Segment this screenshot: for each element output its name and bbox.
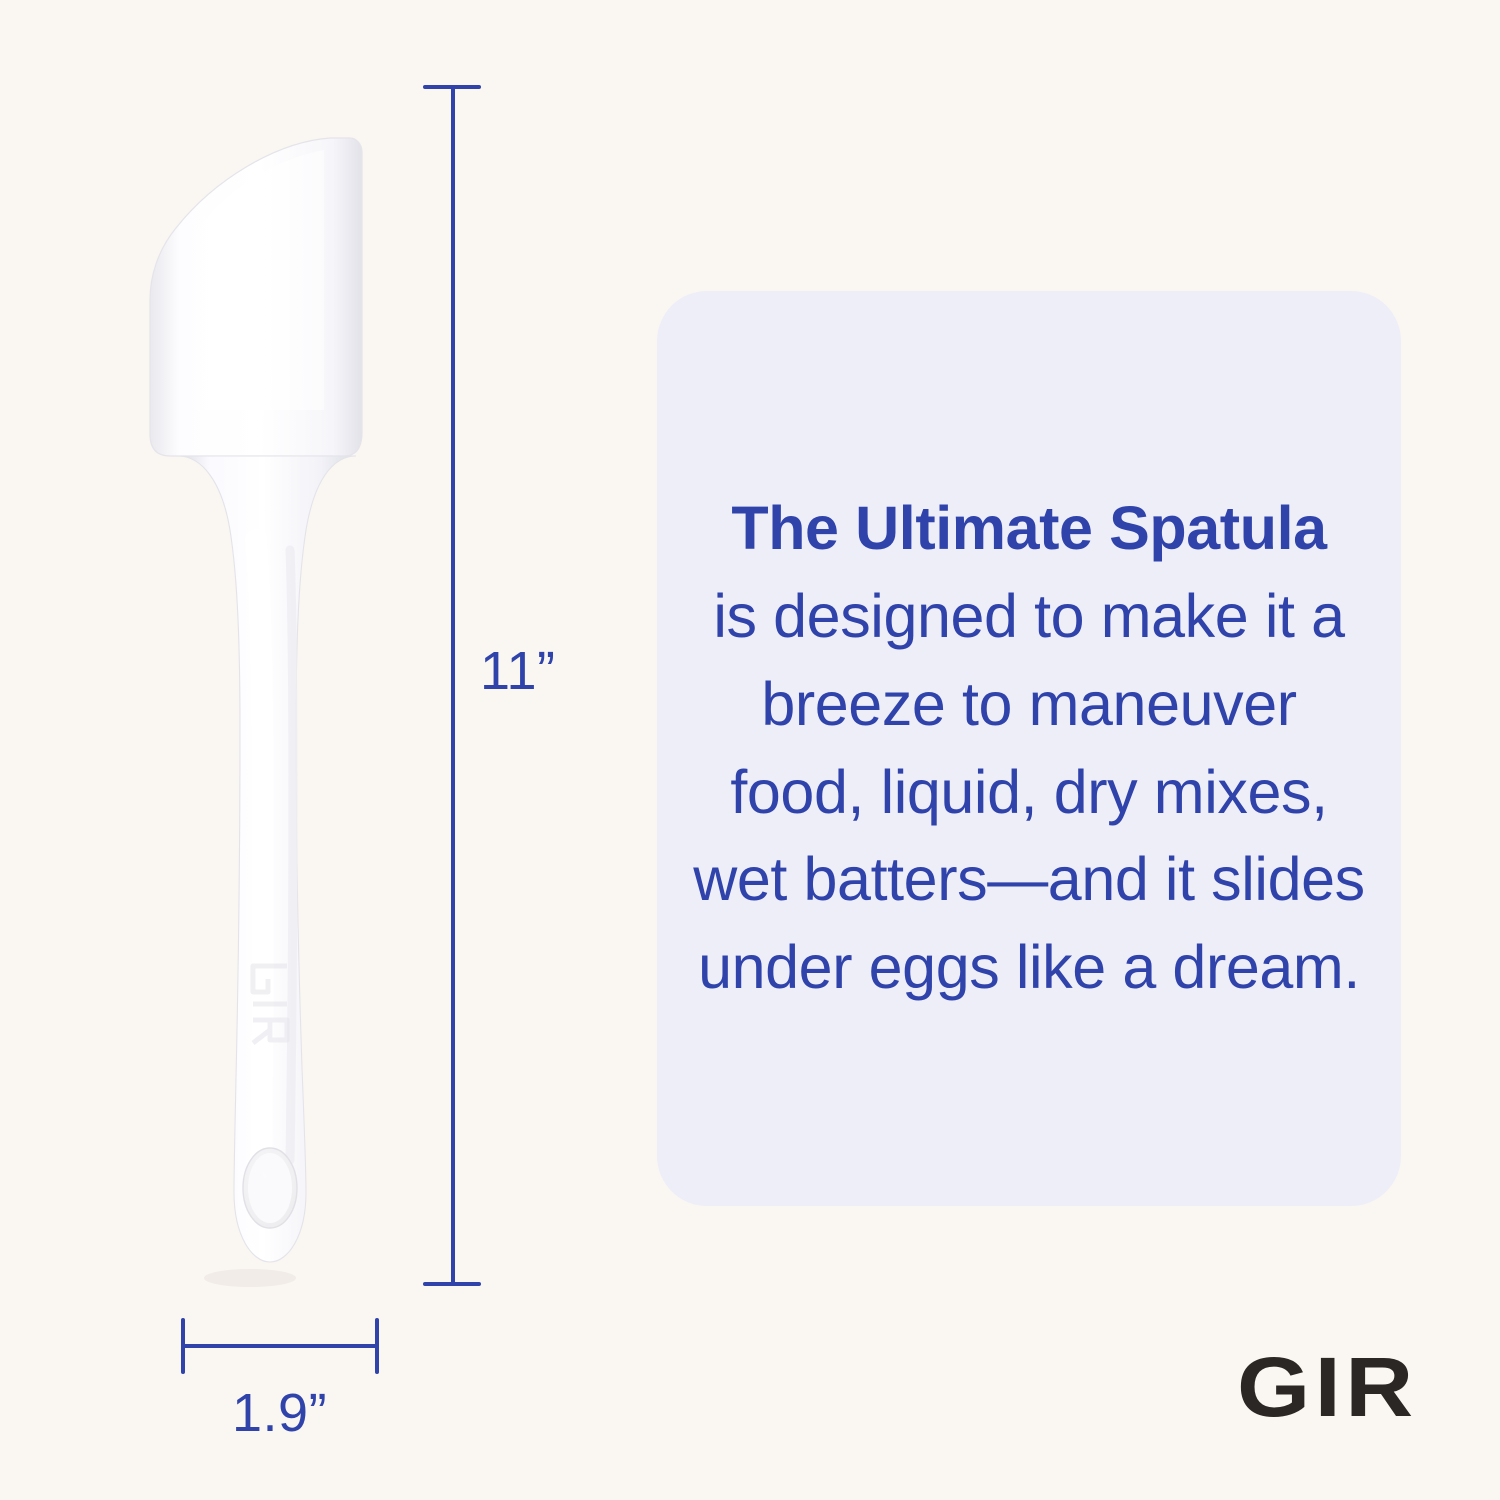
height-dimension-cap-top: [423, 85, 481, 89]
width-dimension-line: [181, 1344, 379, 1348]
infographic-canvas: 11” 1.9” The Ultimate Spatula is designe…: [0, 0, 1500, 1500]
height-dimension-line: [451, 85, 455, 1286]
width-dimension-cap-right: [375, 1318, 379, 1374]
height-dimension-cap-bottom: [423, 1282, 481, 1286]
description-headline: The Ultimate Spatula: [693, 485, 1365, 573]
product-image-spatula: [118, 110, 378, 1290]
brand-logo-gir: GIR: [1237, 1345, 1418, 1429]
description-paragraph: The Ultimate Spatula is designed to make…: [693, 485, 1365, 1012]
width-dimension-cap-left: [181, 1318, 185, 1374]
description-card: The Ultimate Spatula is designed to make…: [657, 291, 1401, 1206]
height-dimension-label: 11”: [480, 640, 556, 702]
width-dimension-label: 1.9”: [232, 1382, 327, 1444]
description-body: is designed to make it a breeze to maneu…: [693, 573, 1365, 1012]
